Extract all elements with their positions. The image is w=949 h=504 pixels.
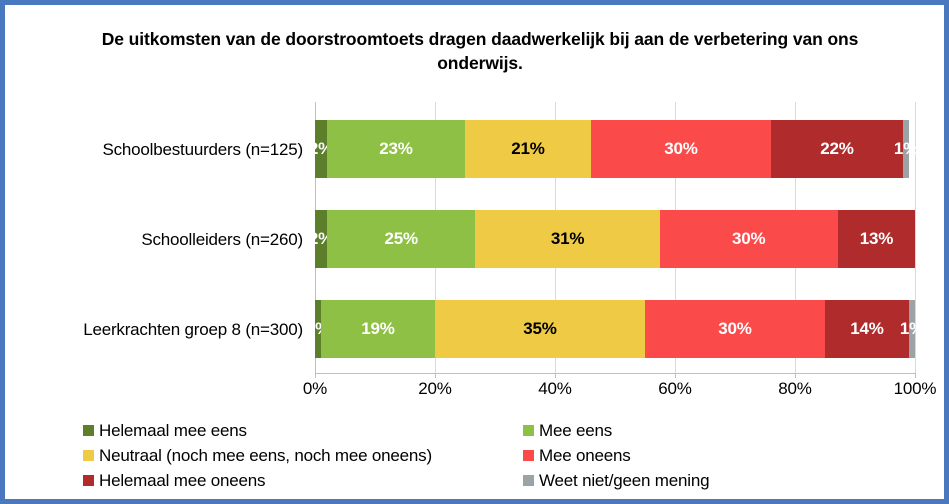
bar-segment: 30% [660, 210, 838, 268]
legend-label: Neutraal (noch mee eens, noch mee oneens… [99, 446, 432, 466]
x-tick-label: 0% [275, 379, 355, 399]
gridline [915, 102, 916, 373]
x-tick-label: 20% [395, 379, 475, 399]
legend-item[interactable]: Mee eens [523, 419, 903, 442]
category-label-schoolleiders: Schoolleiders (n=260) [35, 230, 303, 250]
bar-row: 2%25%31%30%13% [315, 210, 915, 268]
chart-title: De uitkomsten van de doorstroomtoets dra… [65, 27, 895, 75]
legend-item[interactable]: Weet niet/geen mening [523, 469, 903, 492]
bar-segment: 2% [315, 120, 327, 178]
chart-frame: De uitkomsten van de doorstroomtoets dra… [0, 0, 949, 504]
bar-segment-value: 23% [379, 139, 412, 159]
bar-segment-value: 35% [523, 319, 556, 339]
legend-swatch-icon [83, 475, 94, 486]
legend-column-right: Mee eensMee oneensWeet niet/geen mening [523, 419, 903, 494]
x-tick-mark [435, 373, 436, 378]
legend-swatch-icon [523, 425, 534, 436]
bar-segment-value: 22% [820, 139, 853, 159]
legend-label: Mee eens [539, 421, 612, 441]
bar-row: 2%23%21%30%22%1% [315, 120, 915, 178]
bar-segment: 22% [771, 120, 903, 178]
legend-item[interactable]: Helemaal mee eens [83, 419, 523, 442]
legend-label: Mee oneens [539, 446, 631, 466]
legend-swatch-icon [83, 450, 94, 461]
bar-segment-value: 25% [385, 229, 418, 249]
x-tick-label: 60% [635, 379, 715, 399]
x-tick-label: 40% [515, 379, 595, 399]
x-axis-line [315, 373, 916, 374]
bar-segment-value: 14% [850, 319, 883, 339]
legend-item[interactable]: Mee oneens [523, 444, 903, 467]
bar-segment: 23% [327, 120, 465, 178]
bar-segment: 1% [909, 300, 915, 358]
bar-segment-value: 21% [511, 139, 544, 159]
bar-segment: 1% [903, 120, 909, 178]
plot-area: 2%23%21%30%22%1% 2%25%31%30%13% 1%19%35%… [315, 102, 915, 373]
legend-label: Helemaal mee oneens [99, 471, 265, 491]
x-tick-label: 100% [875, 379, 949, 399]
legend-label: Weet niet/geen mening [539, 471, 709, 491]
legend-swatch-icon [523, 475, 534, 486]
category-label-leerkrachten: Leerkrachten groep 8 (n=300) [35, 320, 303, 340]
bar-segment: 35% [435, 300, 645, 358]
legend-label: Helemaal mee eens [99, 421, 247, 441]
x-tick-mark [675, 373, 676, 378]
x-tick-mark [915, 373, 916, 378]
category-label-schoolbestuurders: Schoolbestuurders (n=125) [35, 140, 303, 160]
bar-segment: 25% [327, 210, 475, 268]
legend-item[interactable]: Neutraal (noch mee eens, noch mee oneens… [83, 444, 523, 467]
bar-segment: 21% [465, 120, 591, 178]
bar-segment: 13% [838, 210, 915, 268]
legend-column-left: Helemaal mee eensNeutraal (noch mee eens… [83, 419, 523, 494]
bar-segment: 19% [321, 300, 435, 358]
bar-row: 1%19%35%30%14%1% [315, 300, 915, 358]
bar-segment-value: 30% [718, 319, 751, 339]
legend-swatch-icon [83, 425, 94, 436]
x-tick-mark [315, 373, 316, 378]
bar-segment-value: 19% [361, 319, 394, 339]
bar-segment: 14% [825, 300, 909, 358]
bar-segment: 30% [645, 300, 825, 358]
legend-item[interactable]: Helemaal mee oneens [83, 469, 523, 492]
x-tick-mark [555, 373, 556, 378]
bar-segment-value: 30% [732, 229, 765, 249]
bar-segment-value: 13% [860, 229, 893, 249]
bar-segment: 31% [475, 210, 659, 268]
bar-segment: 2% [315, 210, 327, 268]
bar-segment: 30% [591, 120, 771, 178]
bar-segment-value: 30% [664, 139, 697, 159]
x-tick-label: 80% [755, 379, 835, 399]
bar-segment-value: 31% [551, 229, 584, 249]
x-tick-mark [795, 373, 796, 378]
legend-swatch-icon [523, 450, 534, 461]
